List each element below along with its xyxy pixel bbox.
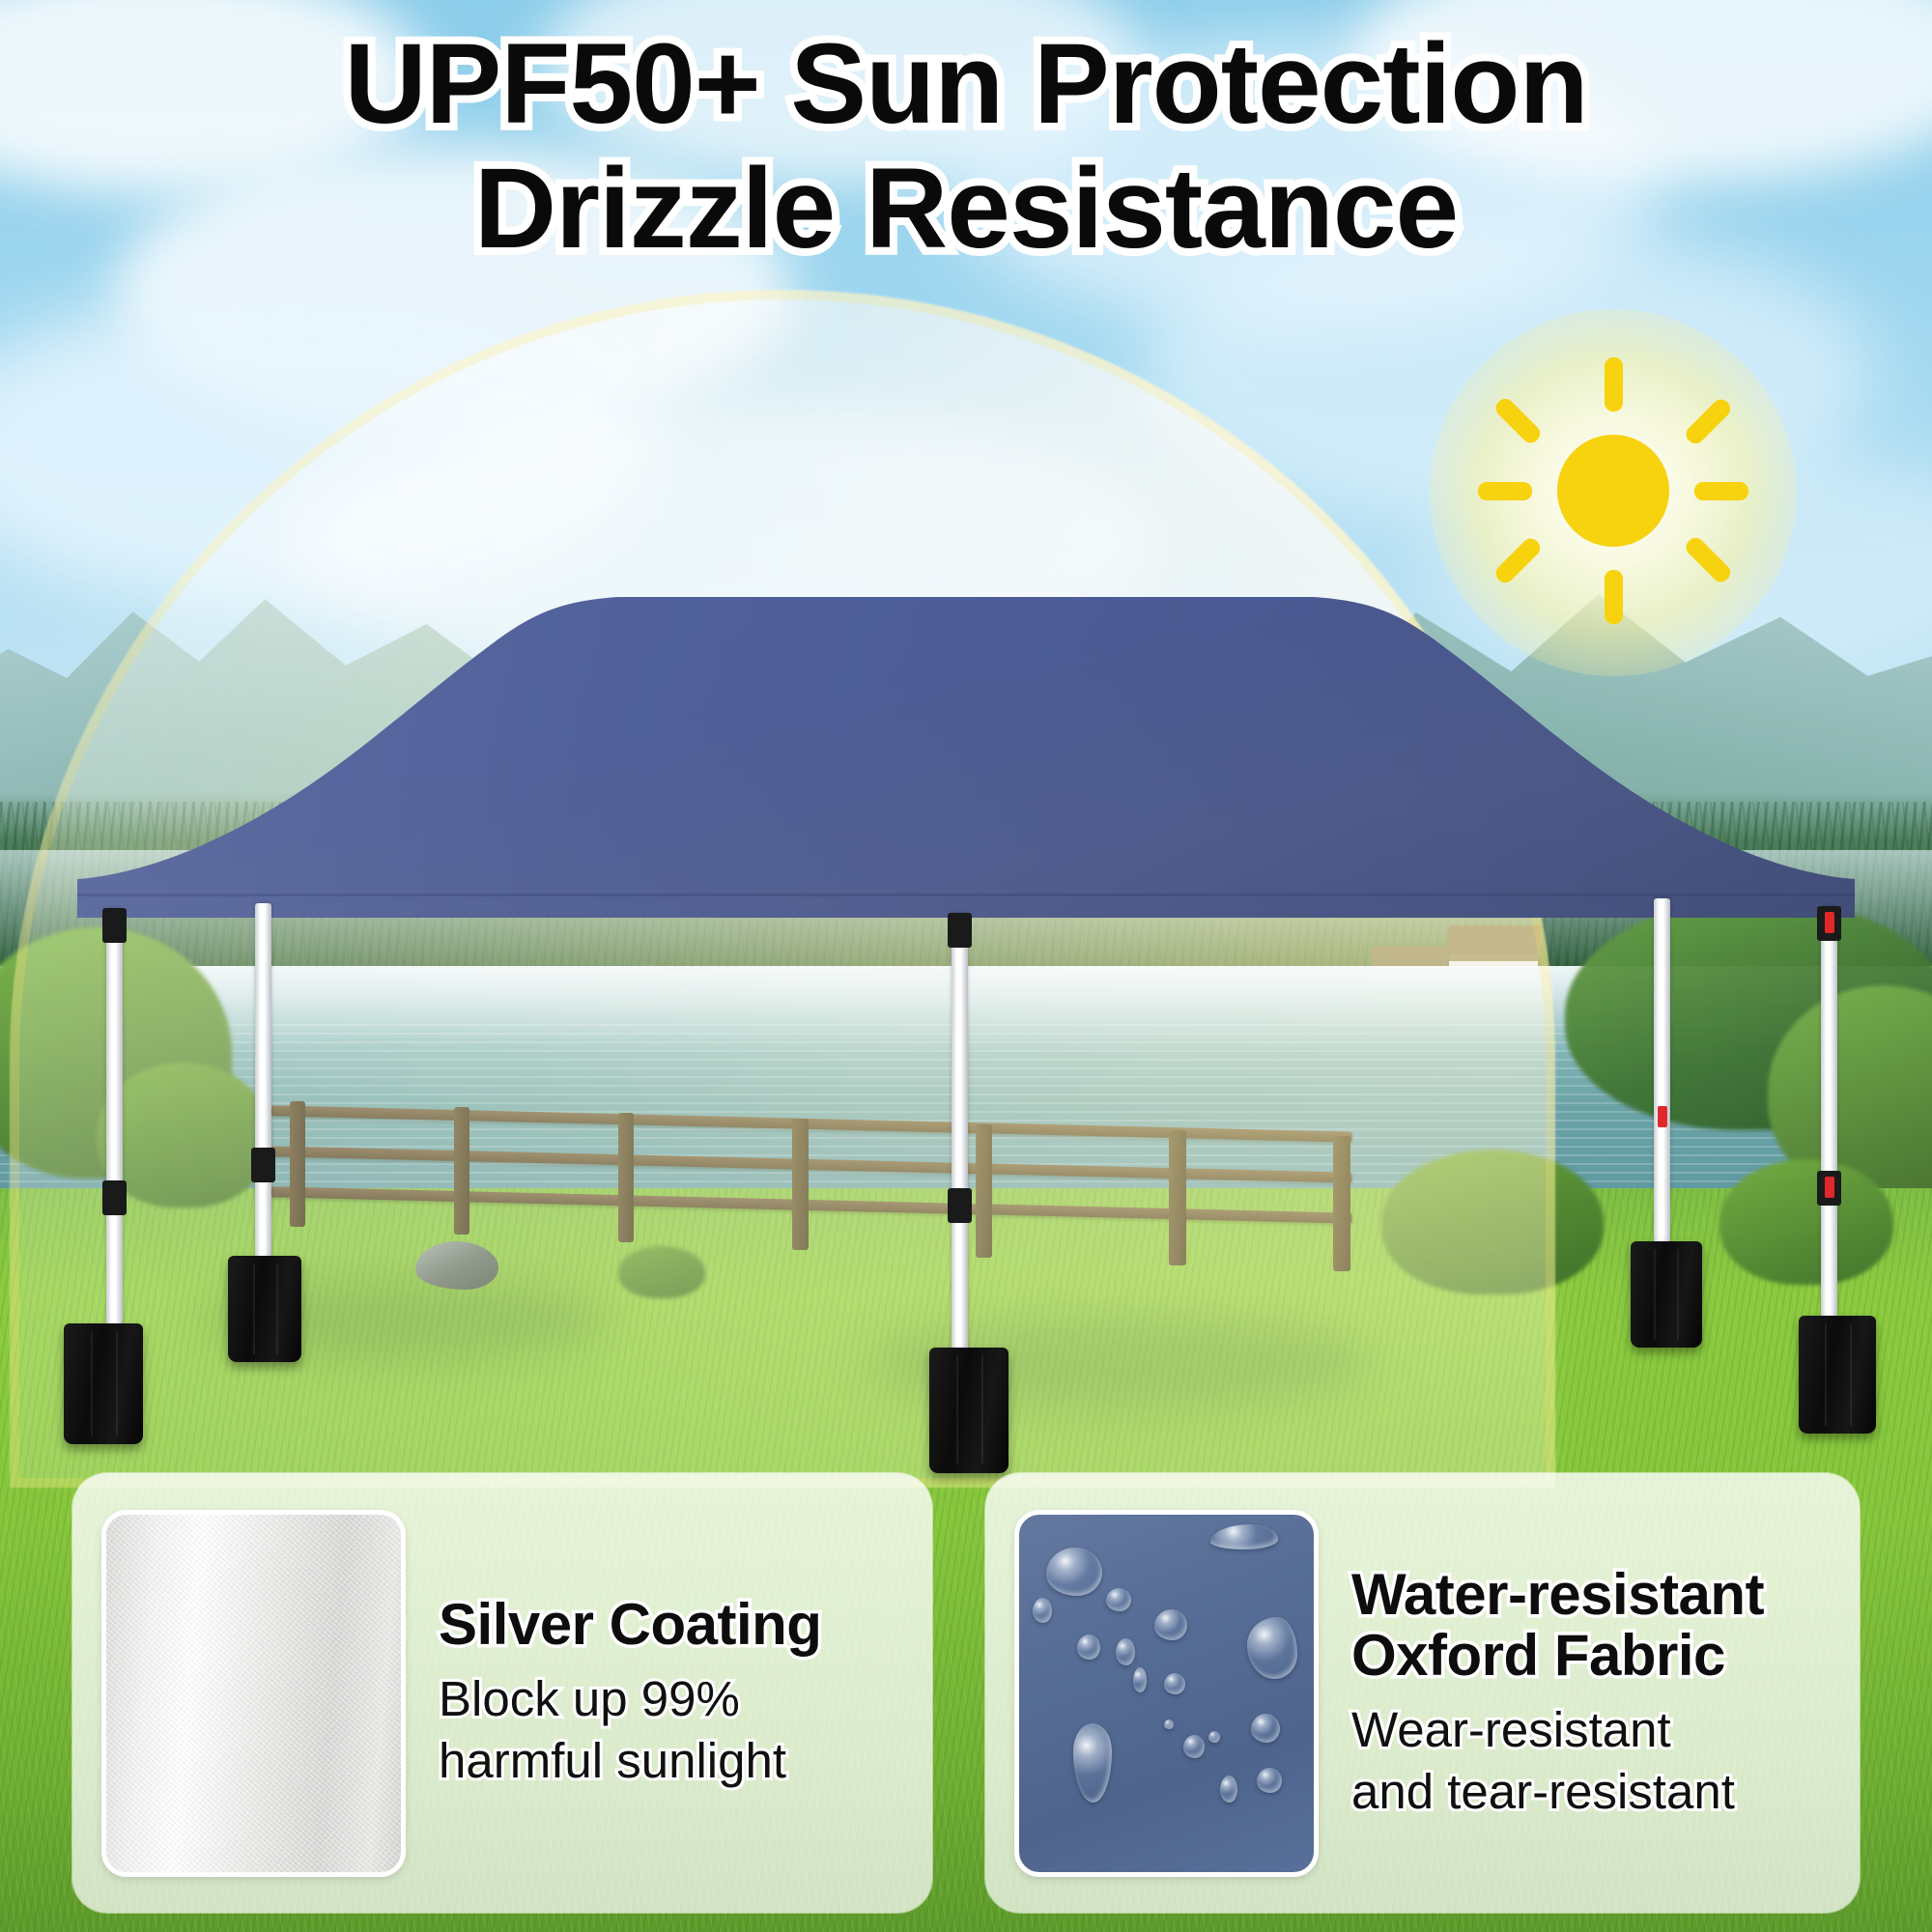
leg-collar-clamp bbox=[251, 1148, 275, 1182]
canopy-tent-top bbox=[77, 551, 1855, 927]
weight-bag bbox=[929, 1348, 1009, 1473]
feature-body-line-2: and tear-resistant bbox=[1351, 1762, 1764, 1822]
feature-body-line-2: harmful sunlight bbox=[439, 1731, 821, 1791]
feature-title-line-1: Water-resistant bbox=[1351, 1564, 1764, 1626]
leg-height-button[interactable] bbox=[1825, 912, 1834, 933]
water-droplet-swatch-icon bbox=[1014, 1510, 1319, 1877]
leg-collar-clamp bbox=[948, 913, 972, 948]
feature-card-water-resistant[interactable]: Water-resistant Oxford Fabric Wear-resis… bbox=[985, 1473, 1860, 1913]
leg-height-button[interactable] bbox=[1658, 1106, 1667, 1127]
feature-cards: Silver Coating Block up 99% harmful sunl… bbox=[0, 1473, 1932, 1913]
headline-line-2: Drizzle Resistance bbox=[0, 150, 1932, 269]
shrub bbox=[1719, 1159, 1893, 1285]
canopy-leg bbox=[1821, 906, 1837, 1350]
canopy-shading bbox=[77, 551, 1855, 927]
weight-bag bbox=[1799, 1316, 1876, 1434]
weight-bag bbox=[1631, 1241, 1702, 1348]
feature-card-silver-coating[interactable]: Silver Coating Block up 99% harmful sunl… bbox=[72, 1473, 932, 1913]
leg-collar-clamp bbox=[102, 1180, 127, 1215]
canopy-leg bbox=[255, 903, 271, 1290]
feature-body-line-1: Wear-resistant bbox=[1351, 1700, 1764, 1760]
canopy-seam bbox=[77, 894, 1855, 896]
weight-bag bbox=[64, 1323, 143, 1444]
feature-body-line-1: Block up 99% bbox=[439, 1669, 821, 1729]
weight-bag bbox=[228, 1256, 301, 1362]
silver-coating-swatch-icon bbox=[101, 1510, 406, 1877]
headline: UPF50+ Sun Protection Drizzle Resistance bbox=[0, 25, 1932, 268]
leg-collar-clamp bbox=[102, 908, 127, 943]
canopy-leg bbox=[1654, 898, 1670, 1275]
canopy-leg bbox=[106, 908, 123, 1362]
marketing-banner: UPF50+ Sun Protection Drizzle Resistance… bbox=[0, 0, 1932, 1932]
feature-card-text: Silver Coating Block up 99% harmful sunl… bbox=[439, 1594, 821, 1791]
feature-title-line-2: Oxford Fabric bbox=[1351, 1625, 1764, 1687]
headline-line-1: UPF50+ Sun Protection bbox=[0, 25, 1932, 144]
leg-collar-clamp bbox=[948, 1188, 972, 1223]
feature-title: Silver Coating bbox=[439, 1594, 821, 1656]
leg-height-button[interactable] bbox=[1825, 1177, 1834, 1198]
feature-card-text: Water-resistant Oxford Fabric Wear-resis… bbox=[1351, 1564, 1764, 1823]
canopy-leg bbox=[952, 913, 968, 1377]
